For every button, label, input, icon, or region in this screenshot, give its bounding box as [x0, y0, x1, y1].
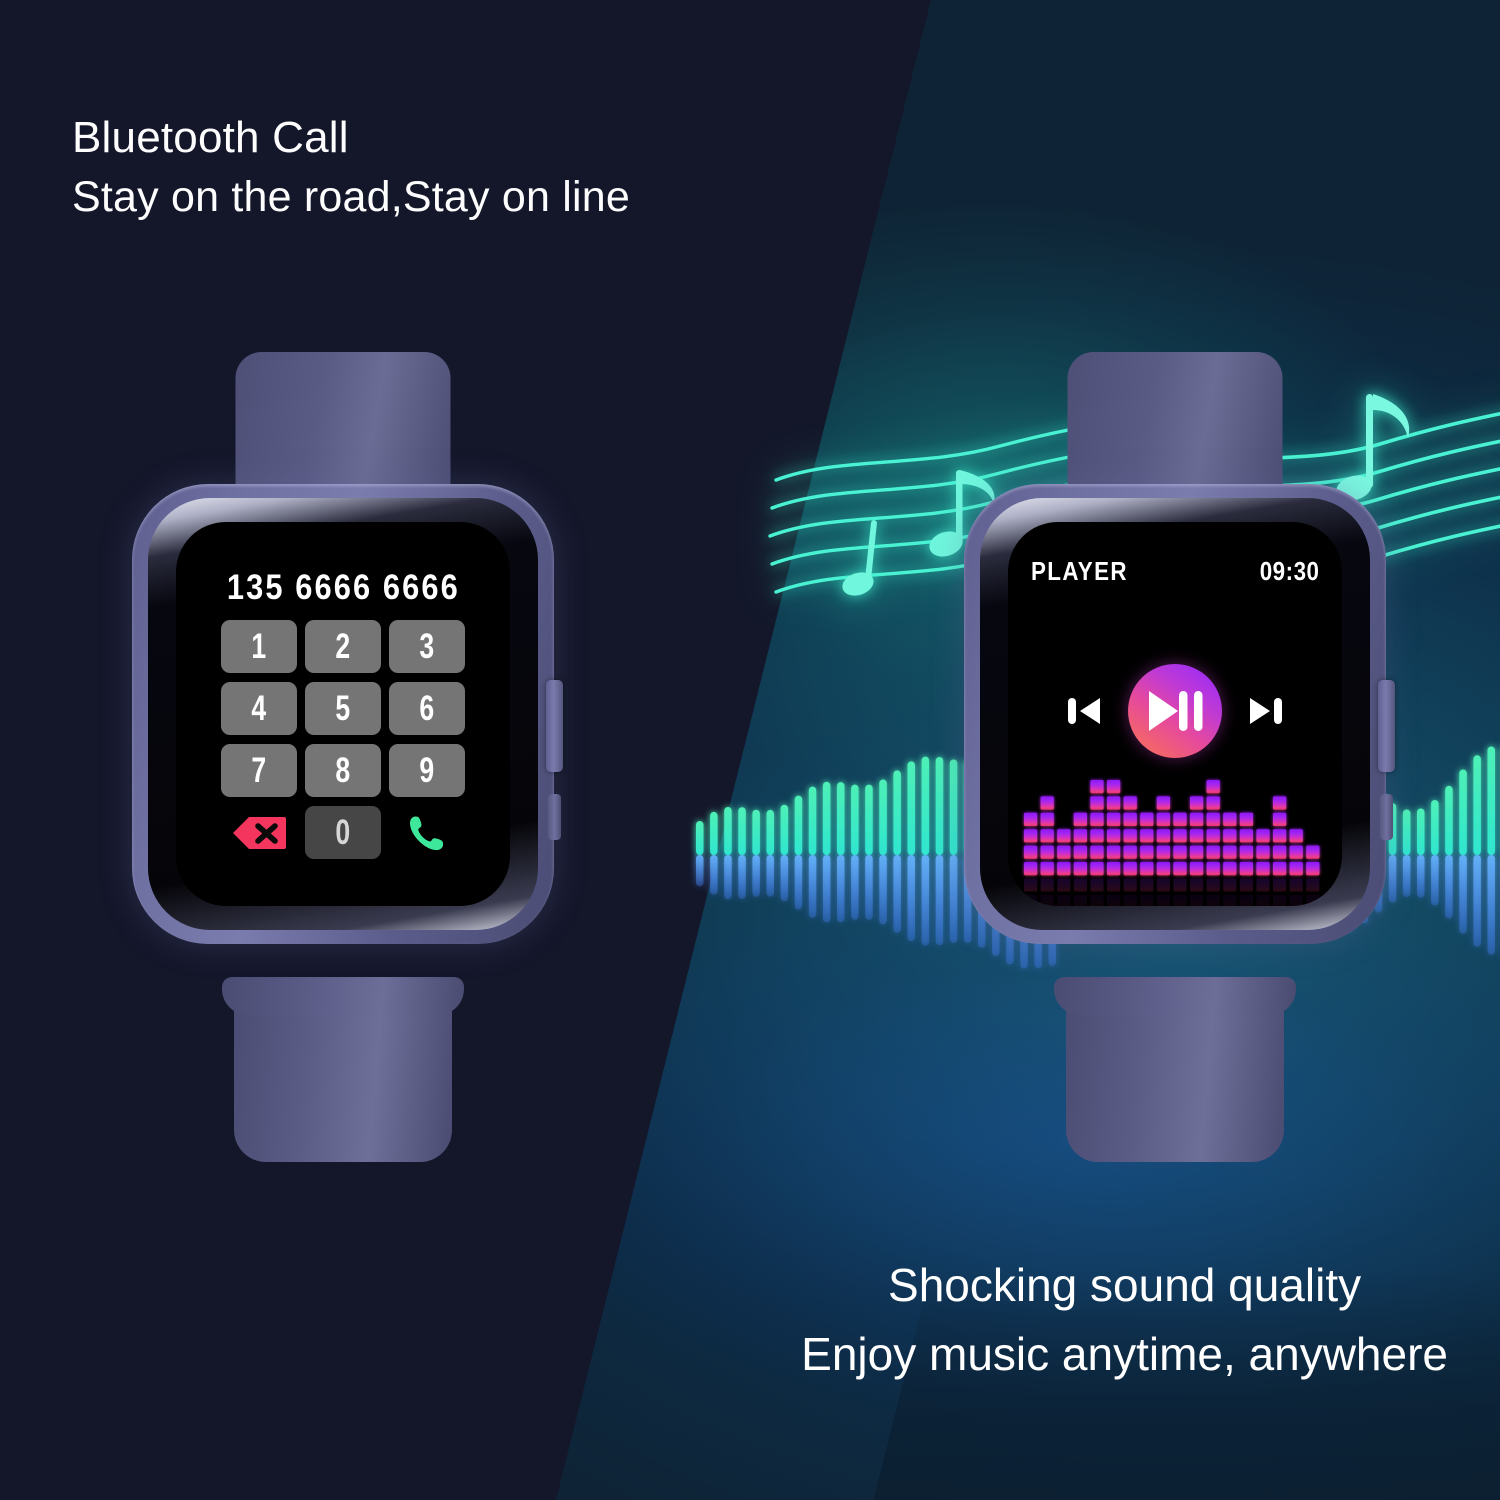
equalizer-cell — [1207, 878, 1220, 891]
smartwatch-bluetooth-call: 135 6666 6666 1 2 3 4 5 6 7 8 9 — [128, 352, 558, 1162]
equalizer-cell — [1074, 862, 1087, 875]
equalizer-cell — [1273, 796, 1286, 809]
equalizer-cell — [1290, 862, 1303, 875]
equalizer-cell — [1273, 895, 1286, 906]
previous-track-icon — [1066, 691, 1102, 731]
equalizer-cell — [1140, 829, 1153, 842]
equalizer-cell — [1207, 846, 1220, 859]
equalizer-cell — [1240, 862, 1253, 875]
equalizer-cell — [1290, 829, 1303, 842]
watch-case: 135 6666 6666 1 2 3 4 5 6 7 8 9 — [132, 484, 554, 944]
equalizer-cell — [1173, 846, 1186, 859]
key-8[interactable]: 8 — [305, 744, 381, 797]
equalizer-cell — [1057, 846, 1070, 859]
equalizer-cell — [1207, 813, 1220, 826]
equalizer-cell — [1140, 813, 1153, 826]
equalizer-cell — [1124, 862, 1137, 875]
equalizer-cell — [1107, 862, 1120, 875]
play-pause-icon — [1146, 687, 1204, 735]
key-3-label: 3 — [420, 627, 435, 667]
key-7[interactable]: 7 — [221, 744, 297, 797]
watch-band-bottom — [234, 977, 452, 1162]
equalizer-cell — [1090, 780, 1103, 793]
equalizer-cell — [1041, 878, 1054, 891]
right-headline-line2: Enjoy music anytime, anywhere — [801, 1327, 1448, 1382]
equalizer-cell — [1057, 862, 1070, 875]
watch-crown-button-right[interactable] — [1378, 680, 1395, 772]
equalizer-cell — [1190, 796, 1203, 809]
equalizer-cell — [1306, 878, 1319, 891]
equalizer-cell — [1024, 813, 1037, 826]
equalizer-cell — [1140, 878, 1153, 891]
next-track-button[interactable] — [1248, 691, 1284, 731]
equalizer-cell — [1107, 796, 1120, 809]
key-0-label: 0 — [336, 813, 351, 853]
equalizer-cell — [1273, 846, 1286, 859]
equalizer-cell — [1207, 829, 1220, 842]
equalizer-cell — [1207, 895, 1220, 906]
equalizer-cell — [1290, 846, 1303, 859]
equalizer-cell — [1024, 878, 1037, 891]
equalizer-cell — [1107, 895, 1120, 906]
equalizer-cell — [1074, 829, 1087, 842]
watch-crown-button[interactable] — [546, 680, 563, 772]
equalizer-cell — [1173, 813, 1186, 826]
equalizer-cell — [1223, 846, 1236, 859]
watch-band-bottom-right — [1066, 977, 1284, 1162]
equalizer-cell — [1024, 895, 1037, 906]
equalizer-cell — [1041, 846, 1054, 859]
phone-call-icon — [407, 813, 447, 853]
equalizer-cell — [1057, 829, 1070, 842]
equalizer-cell — [1290, 878, 1303, 891]
left-headline-line2: Stay on the road,Stay on line — [72, 172, 630, 224]
equalizer-cell — [1124, 813, 1137, 826]
call-button[interactable] — [389, 806, 465, 859]
equalizer-cell — [1157, 829, 1170, 842]
equalizer-cell — [1190, 829, 1203, 842]
watch-bezel-right: PLAYER 09:30 — [980, 498, 1370, 930]
equalizer-cell — [1074, 895, 1087, 906]
equalizer-cell — [1240, 846, 1253, 859]
equalizer-cell — [1124, 895, 1137, 906]
equalizer-cell — [1090, 846, 1103, 859]
watch-side-button[interactable] — [548, 794, 561, 840]
equalizer-cell — [1256, 862, 1269, 875]
equalizer-cell — [1306, 862, 1319, 875]
backspace-icon — [232, 816, 286, 850]
equalizer-cell — [1157, 895, 1170, 906]
equalizer-cell — [1090, 895, 1103, 906]
equalizer-cell — [1057, 895, 1070, 906]
equalizer-cell — [1041, 796, 1054, 809]
music-player-app: PLAYER 09:30 — [1008, 522, 1342, 906]
equalizer-cell — [1256, 846, 1269, 859]
equalizer-cell — [1041, 813, 1054, 826]
watch-screen-dialer[interactable]: 135 6666 6666 1 2 3 4 5 6 7 8 9 — [176, 522, 510, 906]
play-pause-button[interactable] — [1128, 664, 1222, 758]
previous-track-button[interactable] — [1066, 691, 1102, 731]
left-headline-line1: Bluetooth Call — [72, 112, 630, 163]
key-6-label: 6 — [420, 689, 435, 729]
left-headline-block: Bluetooth Call Stay on the road,Stay on … — [72, 112, 630, 224]
equalizer-cell — [1173, 895, 1186, 906]
equalizer-cell — [1157, 862, 1170, 875]
equalizer-cell — [1240, 878, 1253, 891]
equalizer-cell — [1124, 796, 1137, 809]
equalizer-cell — [1223, 829, 1236, 842]
equalizer-cell — [1190, 862, 1203, 875]
equalizer-cell — [1157, 878, 1170, 891]
equalizer-cell — [1190, 846, 1203, 859]
equalizer-cell — [1024, 829, 1037, 842]
equalizer-cell — [1124, 878, 1137, 891]
equalizer-cell — [1140, 895, 1153, 906]
equalizer-cell — [1124, 846, 1137, 859]
equalizer-cell — [1207, 796, 1220, 809]
equalizer-cell — [1173, 862, 1186, 875]
key-9-label: 9 — [420, 751, 435, 791]
equalizer-cell — [1190, 878, 1203, 891]
key-2-label: 2 — [336, 627, 351, 667]
equalizer-cell — [1107, 780, 1120, 793]
equalizer-cell — [1240, 813, 1253, 826]
equalizer-cell — [1090, 878, 1103, 891]
numeric-keypad[interactable]: 1 2 3 4 5 6 7 8 9 — [221, 620, 465, 859]
key-8-label: 8 — [336, 751, 351, 791]
equalizer-cell — [1290, 895, 1303, 906]
key-2[interactable]: 2 — [305, 620, 381, 673]
key-0[interactable]: 0 — [305, 806, 381, 859]
equalizer-cell — [1107, 829, 1120, 842]
equalizer-cell — [1090, 829, 1103, 842]
dialer-app: 135 6666 6666 1 2 3 4 5 6 7 8 9 — [176, 522, 510, 906]
player-status-bar: PLAYER 09:30 — [1031, 556, 1319, 587]
key-4-label: 4 — [252, 689, 267, 729]
player-equalizer-visualizer — [1022, 770, 1332, 898]
equalizer-cell — [1273, 813, 1286, 826]
equalizer-cell — [1157, 796, 1170, 809]
key-1-label: 1 — [252, 627, 267, 667]
equalizer-cell — [1024, 846, 1037, 859]
equalizer-cell — [1207, 780, 1220, 793]
equalizer-cell — [1074, 813, 1087, 826]
equalizer-cell — [1041, 862, 1054, 875]
equalizer-cell — [1107, 878, 1120, 891]
equalizer-cell — [1090, 796, 1103, 809]
equalizer-cell — [1057, 878, 1070, 891]
player-clock: 09:30 — [1259, 556, 1319, 587]
equalizer-cell — [1107, 846, 1120, 859]
equalizer-cell — [1223, 878, 1236, 891]
watch-side-button-right[interactable] — [1380, 794, 1393, 840]
equalizer-cell — [1074, 846, 1087, 859]
equalizer-cell — [1207, 862, 1220, 875]
watch-bezel: 135 6666 6666 1 2 3 4 5 6 7 8 9 — [148, 498, 538, 930]
key-4[interactable]: 4 — [221, 682, 297, 735]
watch-screen-player[interactable]: PLAYER 09:30 — [1008, 522, 1342, 906]
banner-stage: 135 6666 6666 1 2 3 4 5 6 7 8 9 — [0, 0, 1500, 1500]
backspace-button[interactable] — [221, 806, 297, 859]
right-headline-line1: Shocking sound quality — [801, 1258, 1448, 1313]
equalizer-cell — [1041, 895, 1054, 906]
player-title: PLAYER — [1031, 556, 1128, 587]
equalizer-cell — [1223, 813, 1236, 826]
equalizer-cell — [1240, 895, 1253, 906]
equalizer-cell — [1024, 862, 1037, 875]
equalizer-cell — [1256, 829, 1269, 842]
equalizer-cell — [1157, 813, 1170, 826]
next-track-icon — [1248, 691, 1284, 731]
equalizer-cell — [1140, 846, 1153, 859]
equalizer-cell — [1107, 813, 1120, 826]
equalizer-cell — [1256, 878, 1269, 891]
equalizer-cell — [1223, 895, 1236, 906]
key-7-label: 7 — [252, 751, 267, 791]
equalizer-cell — [1240, 829, 1253, 842]
equalizer-cell — [1306, 846, 1319, 859]
player-transport-controls — [1008, 664, 1342, 758]
equalizer-cell — [1273, 878, 1286, 891]
key-3[interactable]: 3 — [389, 620, 465, 673]
equalizer-cell — [1090, 813, 1103, 826]
key-6[interactable]: 6 — [389, 682, 465, 735]
equalizer-cell — [1190, 813, 1203, 826]
equalizer-cell — [1256, 895, 1269, 906]
equalizer-cell — [1173, 878, 1186, 891]
equalizer-cell — [1124, 829, 1137, 842]
equalizer-cell — [1190, 895, 1203, 906]
dialed-number-display: 135 6666 6666 — [226, 568, 459, 608]
equalizer-cell — [1173, 829, 1186, 842]
equalizer-cell — [1090, 862, 1103, 875]
key-9[interactable]: 9 — [389, 744, 465, 797]
equalizer-cell — [1223, 862, 1236, 875]
key-5[interactable]: 5 — [305, 682, 381, 735]
smartwatch-music-player: PLAYER 09:30 — [960, 352, 1390, 1162]
right-headline-block: Shocking sound quality Enjoy music anyti… — [801, 1258, 1448, 1382]
equalizer-cell — [1273, 829, 1286, 842]
key-1[interactable]: 1 — [221, 620, 297, 673]
key-5-label: 5 — [336, 689, 351, 729]
watch-case-right: PLAYER 09:30 — [964, 484, 1386, 944]
equalizer-cell — [1306, 895, 1319, 906]
equalizer-cell — [1074, 878, 1087, 891]
equalizer-cell — [1041, 829, 1054, 842]
equalizer-cell — [1140, 862, 1153, 875]
equalizer-cell — [1157, 846, 1170, 859]
equalizer-cell — [1273, 862, 1286, 875]
